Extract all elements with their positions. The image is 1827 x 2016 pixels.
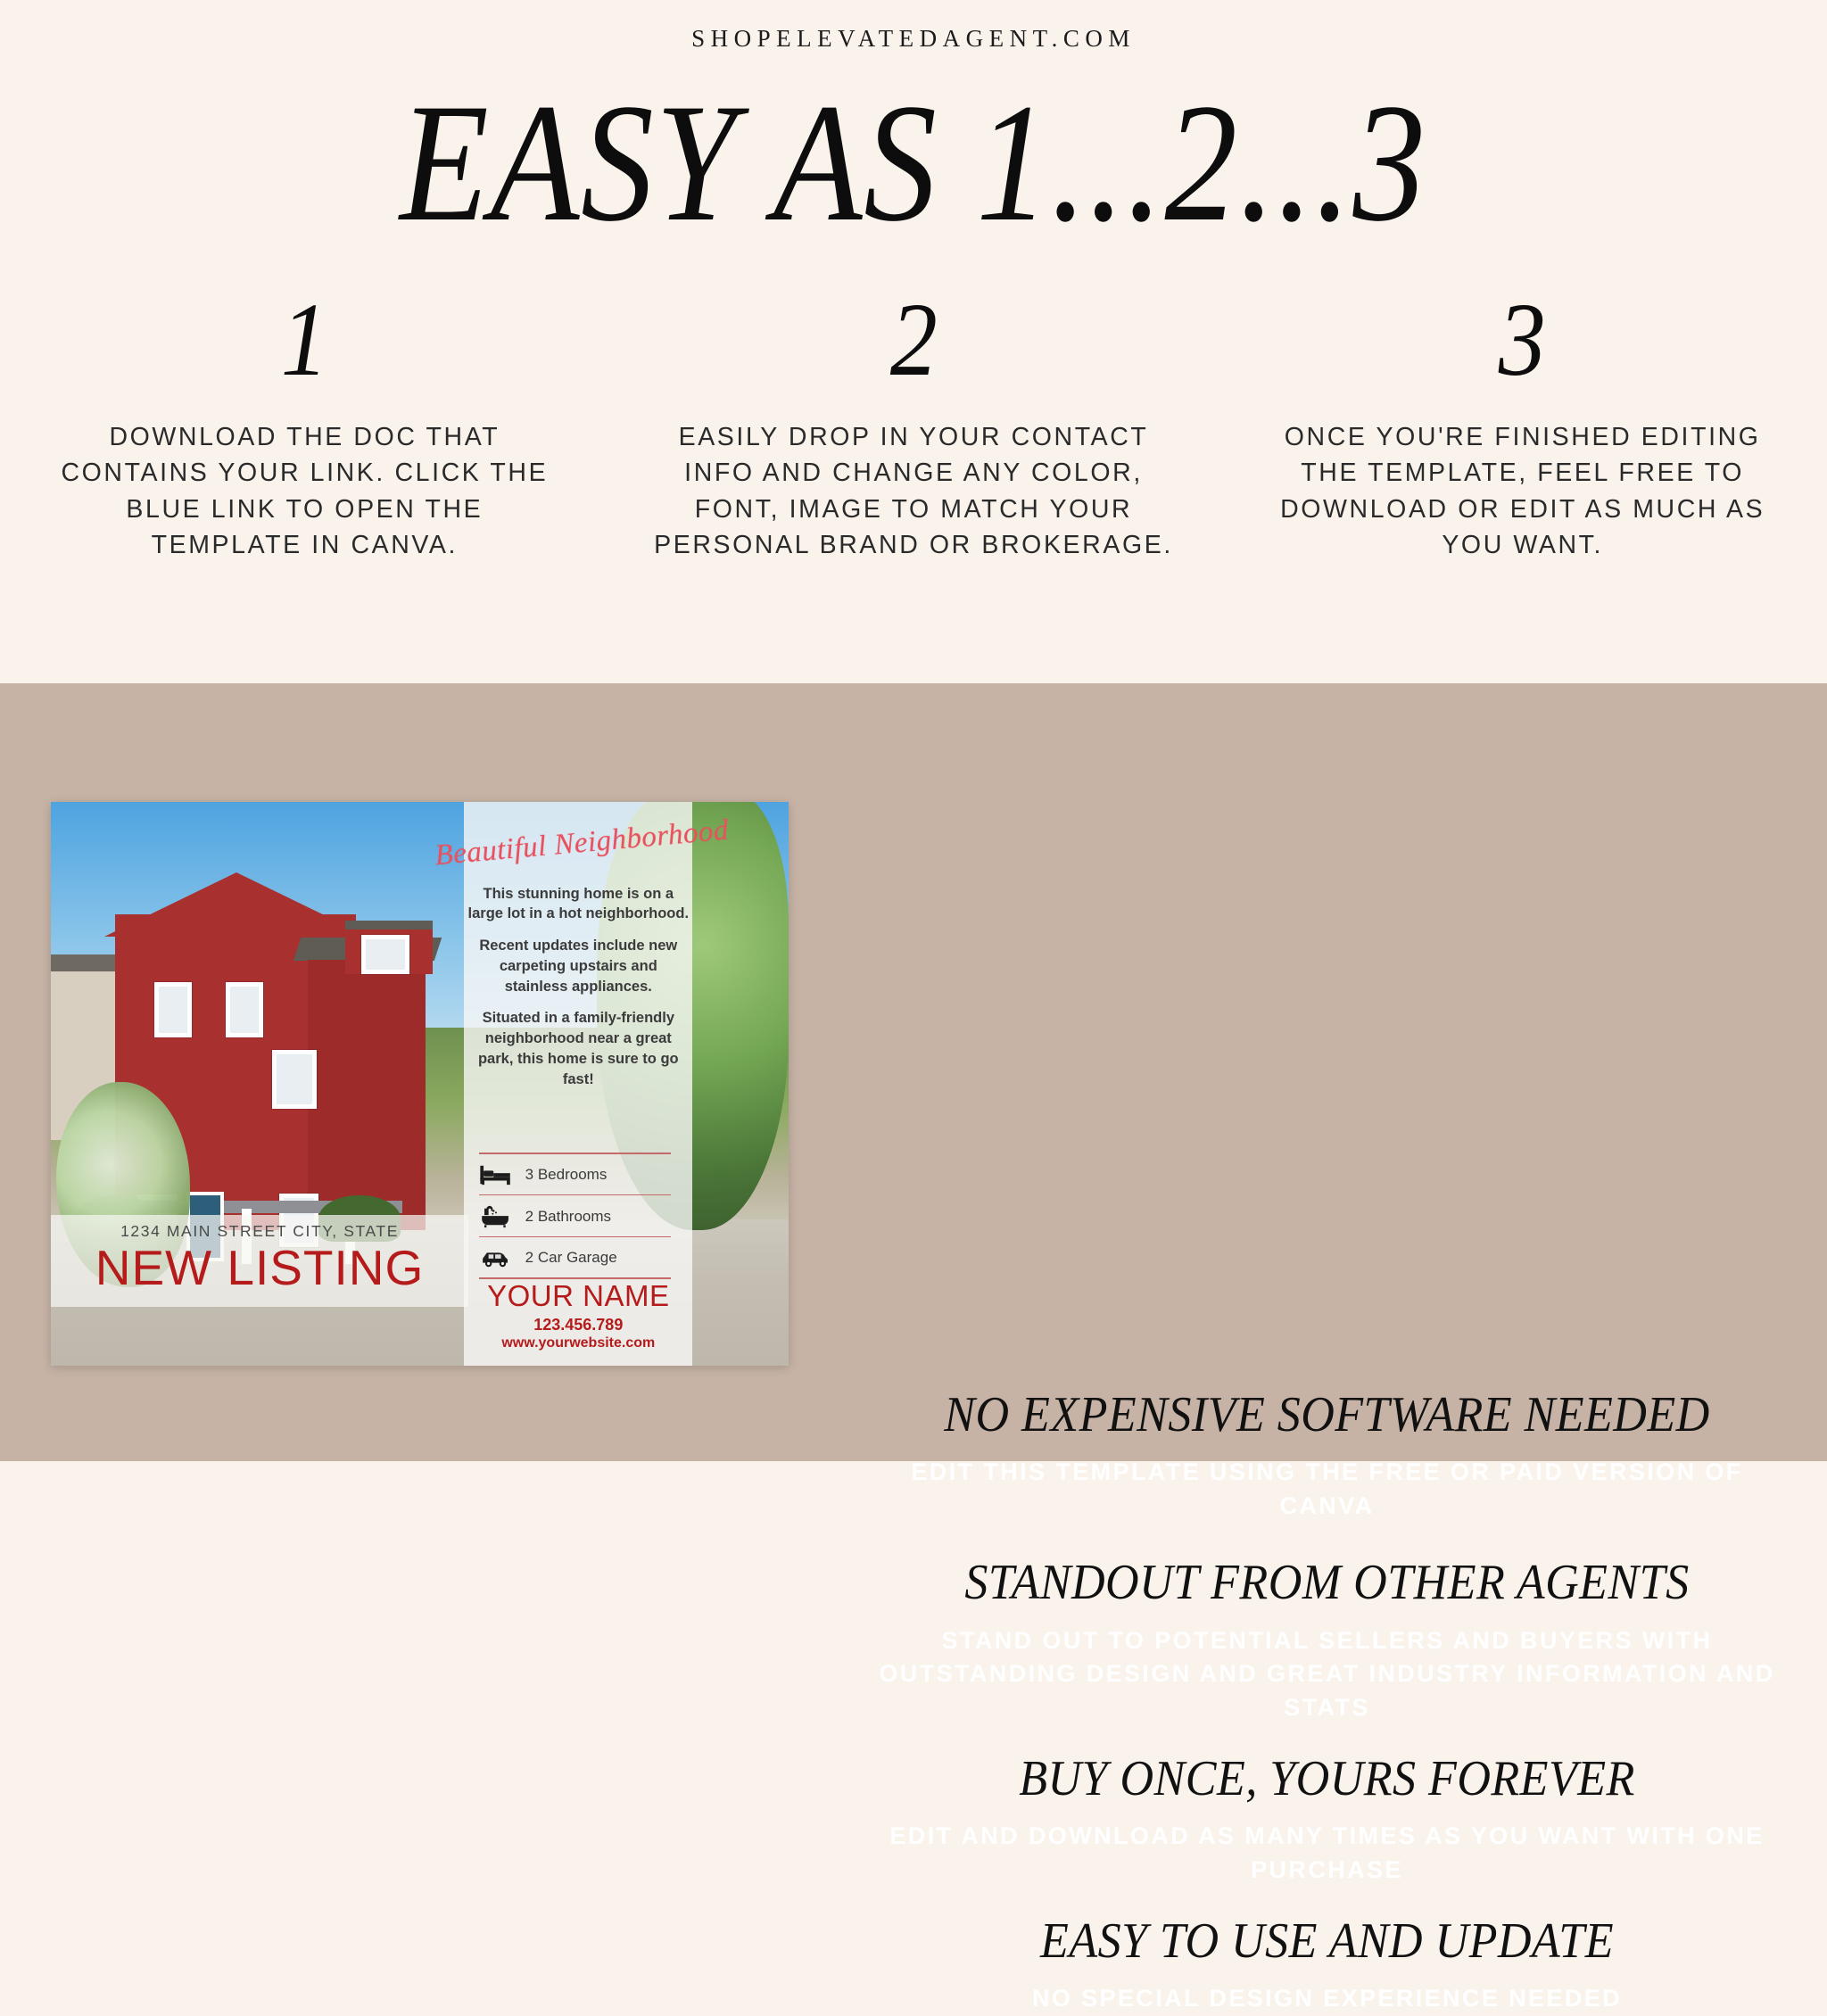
benefit-1-title: NO EXPENSIVE SOFTWARE NEEDED (872, 1388, 1781, 1442)
window-upper-left (154, 982, 192, 1037)
flyer-feature-list: 3 Bedrooms 2 Bathr (479, 1154, 686, 1279)
bed-icon (479, 1163, 513, 1186)
bathtub-icon (479, 1205, 513, 1228)
benefit-3: BUY ONCE, YOURS FOREVER EDIT AND DOWNLOA… (839, 1752, 1815, 1888)
feature-bathrooms: 2 Bathrooms (479, 1196, 686, 1238)
top-cream-section: SHOPELEVATEDAGENT.COM EASY AS 1...2...3 … (0, 0, 1827, 683)
step-3: 3 ONCE YOU'RE FINISHED EDITING THE TEMPL… (1218, 287, 1827, 564)
feature-bathrooms-label: 2 Bathrooms (525, 1208, 611, 1226)
feature-garage: 2 Car Garage (479, 1237, 686, 1279)
step-2-number: 2 (640, 287, 1187, 392)
flyer-paragraph-1: This stunning home is on a large lot in … (467, 884, 689, 925)
benefit-3-title: BUY ONCE, YOURS FOREVER (872, 1752, 1781, 1805)
flyer-paragraph-2: Recent updates include new carpeting ups… (467, 936, 689, 996)
agent-website: www.yourwebsite.com (464, 1335, 692, 1351)
feature-garage-label: 2 Car Garage (525, 1249, 617, 1267)
page-title: EASY AS 1...2...3 (128, 78, 1699, 248)
step-1-text: DOWNLOAD THE DOC THAT CONTAINS YOUR LINK… (0, 419, 609, 564)
agent-phone: 123.456.789 (464, 1316, 692, 1334)
window-mid (272, 1050, 317, 1109)
site-url: SHOPELEVATEDAGENT.COM (0, 25, 1827, 53)
step-1-number: 1 (30, 287, 578, 392)
benefit-1: NO EXPENSIVE SOFTWARE NEEDED EDIT THIS T… (839, 1388, 1815, 1524)
step-3-number: 3 (1248, 287, 1796, 392)
step-1: 1 DOWNLOAD THE DOC THAT CONTAINS YOUR LI… (0, 287, 609, 564)
steps-row: 1 DOWNLOAD THE DOC THAT CONTAINS YOUR LI… (0, 287, 1827, 564)
benefit-2: STANDOUT FROM OTHER AGENTS STAND OUT TO … (839, 1556, 1815, 1725)
window-dormer (361, 935, 409, 974)
flyer-paragraph-3: Situated in a family-friendly neighborho… (467, 1008, 689, 1089)
benefits-list: NO EXPENSIVE SOFTWARE NEEDED EDIT THIS T… (839, 1388, 1815, 2016)
agent-name: YOUR NAME (464, 1279, 692, 1313)
flyer-agent-block: YOUR NAME 123.456.789 www.yourwebsite.co… (464, 1279, 692, 1351)
feature-bedrooms-label: 3 Bedrooms (525, 1166, 608, 1184)
house-wing (308, 960, 426, 1230)
step-2-text: EASILY DROP IN YOUR CONTACT INFO AND CHA… (609, 419, 1219, 564)
window-upper-right (226, 982, 263, 1037)
benefit-3-subtitle: EDIT AND DOWNLOAD AS MANY TIMES AS YOU W… (839, 1820, 1815, 1888)
flyer-address-band: 1234 MAIN STREET CITY, STATE NEW LISTING (51, 1215, 468, 1307)
benefit-2-subtitle: STAND OUT TO POTENTIAL SELLERS AND BUYER… (839, 1624, 1815, 1725)
benefit-2-title: STANDOUT FROM OTHER AGENTS (872, 1556, 1781, 1609)
promo-graphic: SHOPELEVATEDAGENT.COM EASY AS 1...2...3 … (0, 0, 1827, 1461)
benefit-4-subtitle: NO SPECIAL DESIGN EXPERIENCE NEEDED (839, 1982, 1815, 2016)
flyer-description: This stunning home is on a large lot in … (467, 884, 689, 1102)
benefit-1-subtitle: EDIT THIS TEMPLATE USING THE FREE OR PAI… (839, 1456, 1815, 1524)
benefit-4: EASY TO USE AND UPDATE NO SPECIAL DESIGN… (839, 1914, 1815, 2016)
step-3-text: ONCE YOU'RE FINISHED EDITING THE TEMPLAT… (1218, 419, 1827, 564)
car-icon (479, 1246, 513, 1269)
bottom-taupe-section: Beautiful Neighborhood This stunning hom… (0, 683, 1827, 1461)
flyer-headline: NEW LISTING (51, 1243, 468, 1294)
flyer-preview-image: Beautiful Neighborhood This stunning hom… (51, 802, 789, 1366)
benefit-4-title: EASY TO USE AND UPDATE (872, 1914, 1781, 1968)
flyer-address: 1234 MAIN STREET CITY, STATE (51, 1222, 468, 1241)
step-2: 2 EASILY DROP IN YOUR CONTACT INFO AND C… (609, 287, 1219, 564)
feature-bedrooms: 3 Bedrooms (479, 1154, 686, 1196)
